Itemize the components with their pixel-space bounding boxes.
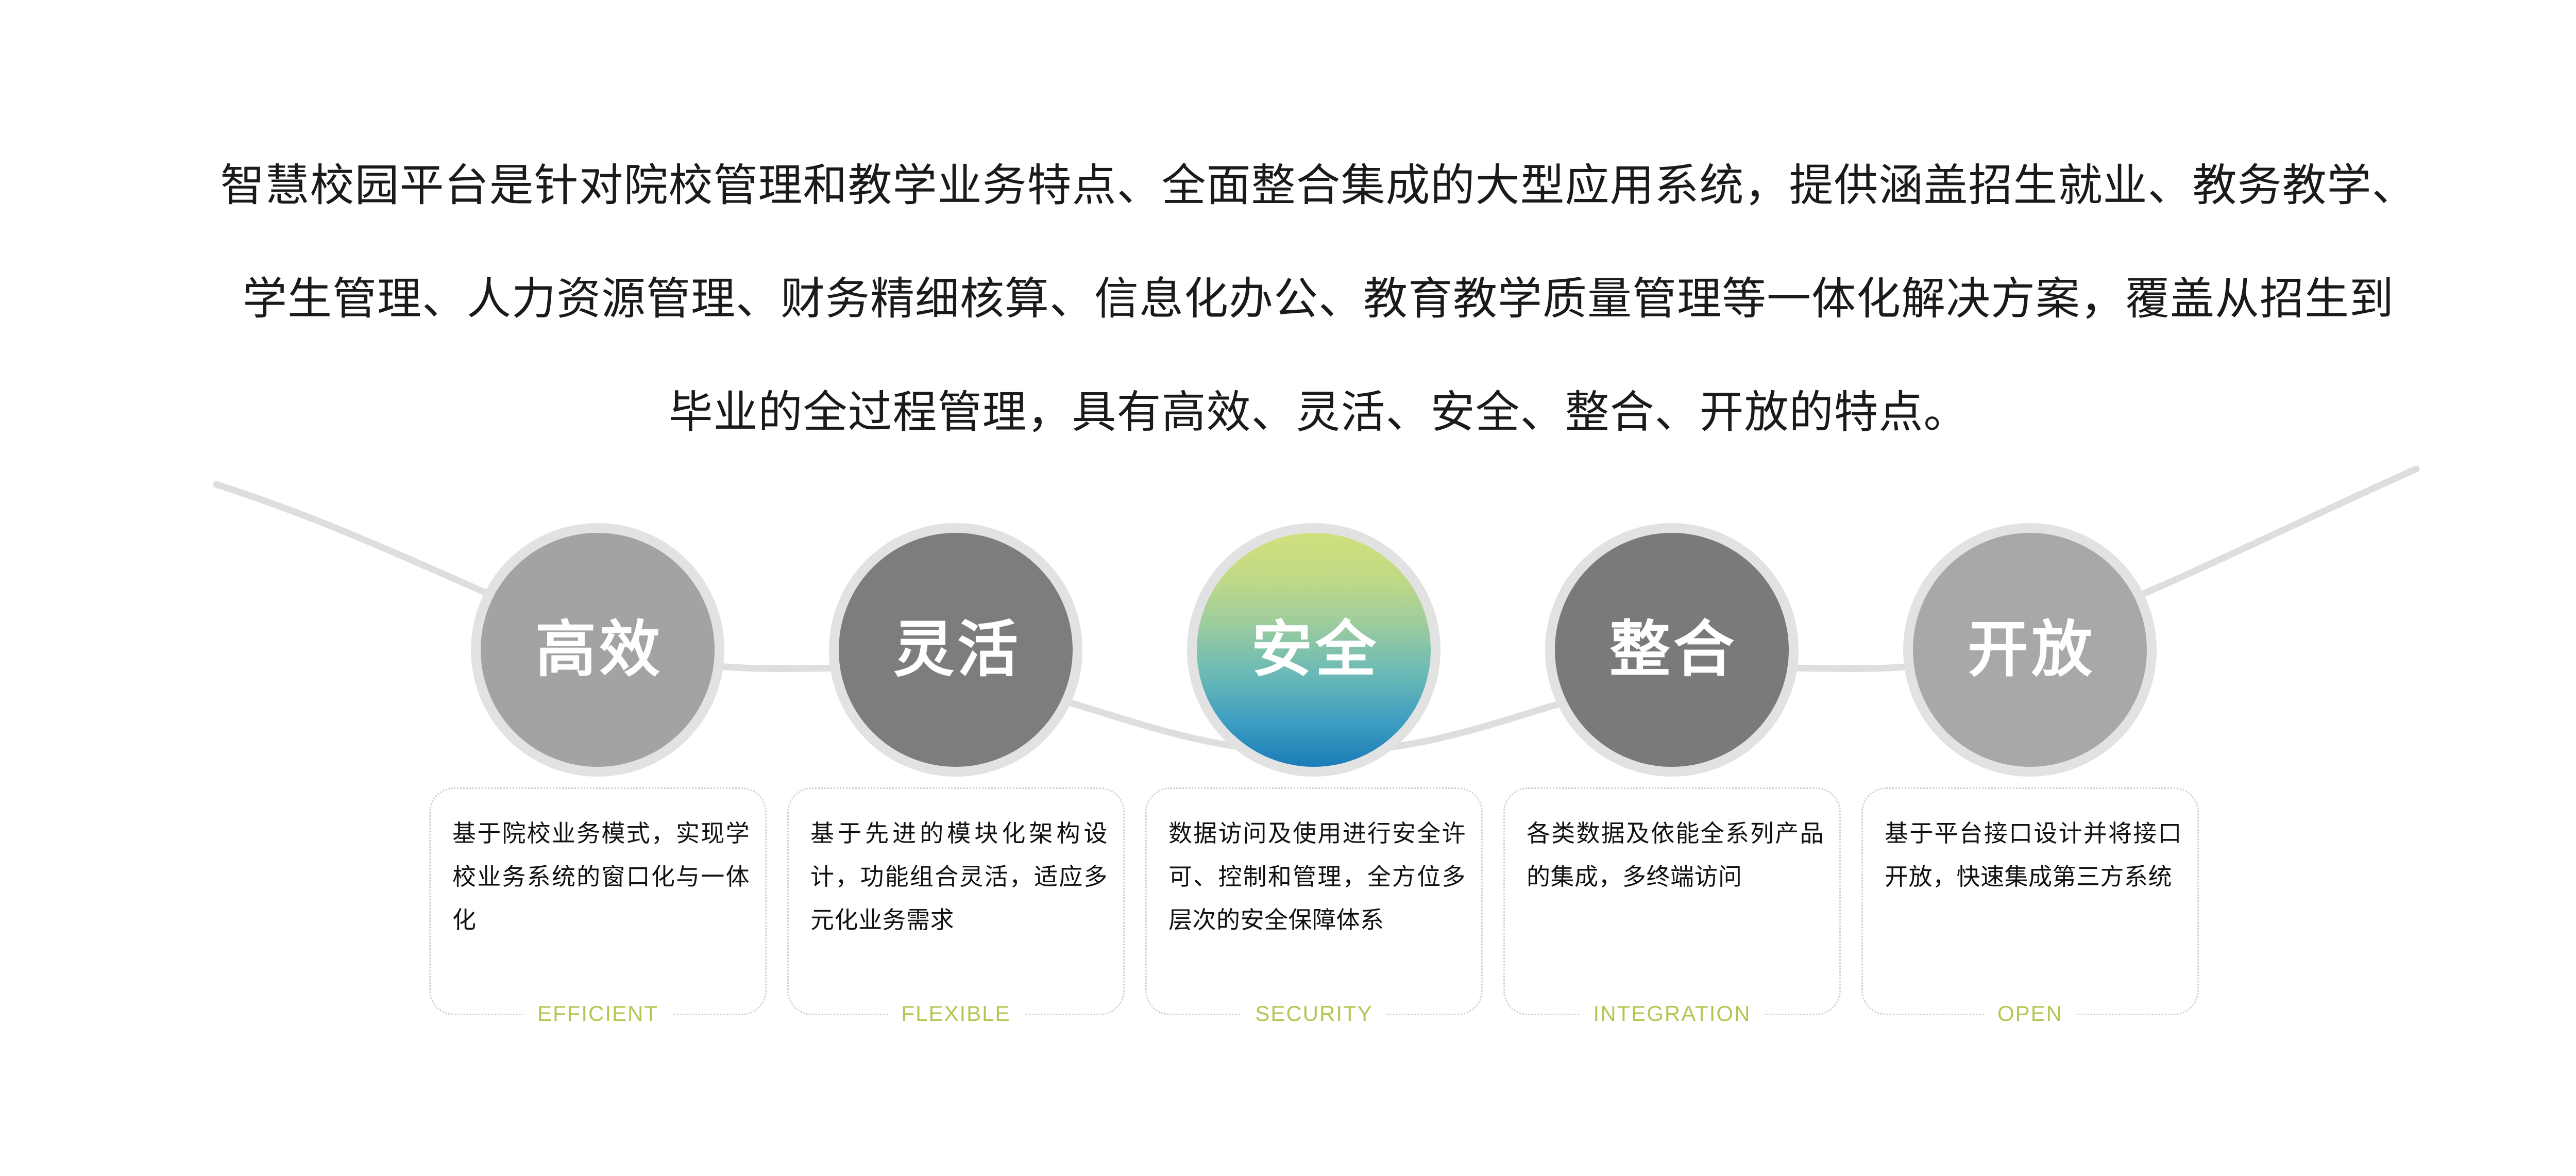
feature-card-description: 各类数据及依能全系列产品的集成，多终端访问 bbox=[1527, 812, 1824, 898]
feature-circle-security[interactable]: 安全 bbox=[1187, 523, 1440, 777]
feature-circle-label: 灵活 bbox=[890, 619, 1021, 680]
feature-circle-integration[interactable]: 整合 bbox=[1545, 523, 1799, 777]
feature-card-row: 基于院校业务模式，实现学校业务系统的窗口化与一体化 EFFICIENT 基于先进… bbox=[0, 787, 2576, 1045]
intro-line-2: 学生管理、人力资源管理、财务精细核算、信息化办公、教育教学质量管理等一体化解决方… bbox=[0, 242, 2576, 356]
feature-circle-open[interactable]: 开放 bbox=[1903, 523, 2157, 777]
feature-circle-flexible[interactable]: 灵活 bbox=[829, 523, 1082, 777]
feature-card-description: 数据访问及使用进行安全许可、控制和管理，全方位多层次的安全保障体系 bbox=[1168, 812, 1466, 942]
feature-card-open: 基于平台接口设计并将接口开放，快速集成第三方系统 OPEN bbox=[1861, 787, 2199, 1015]
feature-card-en-label: SECURITY bbox=[1147, 995, 1481, 1032]
feature-card-en-label: EFFICIENT bbox=[431, 995, 765, 1032]
intro-paragraph: 智慧校园平台是针对院校管理和教学业务特点、全面整合集成的大型应用系统，提供涵盖招… bbox=[0, 129, 2576, 469]
feature-circle-label: 整合 bbox=[1606, 619, 1737, 680]
feature-circle-row: 高效 灵活 安全 整合 开放 bbox=[0, 518, 2576, 791]
feature-card-description: 基于院校业务模式，实现学校业务系统的窗口化与一体化 bbox=[452, 812, 750, 942]
feature-card-efficient: 基于院校业务模式，实现学校业务系统的窗口化与一体化 EFFICIENT bbox=[429, 787, 767, 1015]
infographic-slide: 智慧校园平台是针对院校管理和教学业务特点、全面整合集成的大型应用系统，提供涵盖招… bbox=[0, 0, 2576, 1176]
feature-circle-efficient[interactable]: 高效 bbox=[471, 523, 724, 777]
feature-card-security: 数据访问及使用进行安全许可、控制和管理，全方位多层次的安全保障体系 SECURI… bbox=[1145, 787, 1483, 1015]
intro-line-3: 毕业的全过程管理，具有高效、灵活、安全、整合、开放的特点。 bbox=[0, 356, 2576, 469]
feature-circle-label: 开放 bbox=[1964, 619, 2095, 680]
feature-card-description: 基于平台接口设计并将接口开放，快速集成第三方系统 bbox=[1885, 812, 2182, 898]
feature-card-en-label: INTEGRATION bbox=[1505, 995, 1839, 1032]
feature-card-integration: 各类数据及依能全系列产品的集成，多终端访问 INTEGRATION bbox=[1503, 787, 1841, 1015]
feature-card-en-label: OPEN bbox=[1863, 995, 2197, 1032]
feature-circle-label: 安全 bbox=[1248, 619, 1379, 680]
feature-card-description: 基于先进的模块化架构设计，功能组合灵活，适应多元化业务需求 bbox=[810, 812, 1108, 942]
feature-card-en-label: FLEXIBLE bbox=[789, 995, 1123, 1032]
feature-card-flexible: 基于先进的模块化架构设计，功能组合灵活，适应多元化业务需求 FLEXIBLE bbox=[787, 787, 1125, 1015]
intro-line-1: 智慧校园平台是针对院校管理和教学业务特点、全面整合集成的大型应用系统，提供涵盖招… bbox=[0, 129, 2576, 242]
feature-circle-label: 高效 bbox=[532, 619, 663, 680]
